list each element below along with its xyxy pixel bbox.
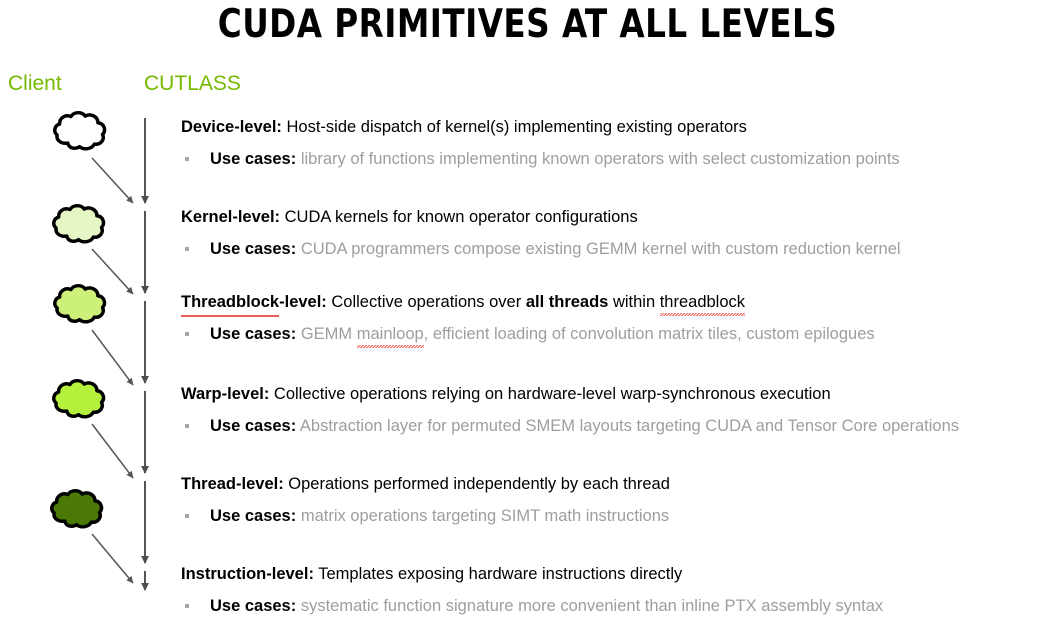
level-title-thread: Thread-level: Operations performed indep… <box>181 473 1051 495</box>
usecase-device: Use cases: library of functions implemen… <box>181 148 1051 170</box>
level-desc-kernel: CUDA kernels for known operator configur… <box>280 208 638 226</box>
level-desc-device: Host-side dispatch of kernel(s) implemen… <box>282 118 747 136</box>
level-lead-threadblock-suffix: -level: <box>279 293 327 311</box>
connector-arrow-4 <box>92 424 133 478</box>
usecase-text-kernel: CUDA programmers compose existing GEMM k… <box>296 240 900 258</box>
level-title-device: Device-level: Host-side dispatch of kern… <box>181 116 1051 138</box>
level-block-instruction: Instruction-level: Templates exposing ha… <box>181 563 1051 617</box>
level-block-device: Device-level: Host-side dispatch of kern… <box>181 116 1051 170</box>
level-title-threadblock: Threadblock-level: Collective operations… <box>181 291 1051 313</box>
level-desc-threadblock-misspelled: threadblock <box>660 291 745 313</box>
level-title-warp: Warp-level: Collective operations relyin… <box>181 383 1051 405</box>
connector-arrow-1 <box>92 158 133 203</box>
cloud-thread-icon <box>52 491 102 527</box>
hierarchy-diagram <box>0 0 180 637</box>
usecase-text-threadblock-a: GEMM <box>296 325 357 343</box>
level-desc-warp: Collective operations relying on hardwar… <box>269 385 830 403</box>
level-title-instruction: Instruction-level: Templates exposing ha… <box>181 563 1051 585</box>
usecase-text-thread: matrix operations targeting SIMT math in… <box>296 507 669 525</box>
level-lead-thread: Thread-level: <box>181 475 284 493</box>
connector-arrow-5 <box>92 534 133 583</box>
bullet-icon <box>185 424 189 428</box>
level-block-threadblock: Threadblock-level: Collective operations… <box>181 291 1051 345</box>
usecase-label-warp: Use cases: <box>210 417 296 435</box>
cloud-warp-icon <box>54 381 104 417</box>
bullet-icon <box>185 332 189 336</box>
level-lead-instruction: Instruction-level: <box>181 565 314 583</box>
level-desc-threadblock-bold: all threads <box>526 293 609 311</box>
level-desc-threadblock-a: Collective operations over <box>327 293 526 311</box>
usecase-instruction: Use cases: systematic function signature… <box>181 595 1051 617</box>
usecase-text-warp: Abstraction layer for permuted SMEM layo… <box>296 417 959 435</box>
level-title-kernel: Kernel-level: CUDA kernels for known ope… <box>181 206 1051 228</box>
usecase-text-device: library of functions implementing known … <box>296 150 899 168</box>
level-desc-thread: Operations performed independently by ea… <box>284 475 670 493</box>
cloud-device-icon <box>55 113 105 149</box>
usecase-text-threadblock-misspelled: mainloop <box>357 323 424 345</box>
page-title: CUDA PRIMITIVES AT ALL LEVELS <box>37 2 1018 47</box>
bullet-icon <box>185 514 189 518</box>
level-desc-threadblock-b: within <box>608 293 659 311</box>
usecase-warp: Use cases: Abstraction layer for permute… <box>181 415 1051 437</box>
usecase-label-instruction: Use cases: <box>210 597 296 615</box>
usecase-text-instruction: systematic function signature more conve… <box>296 597 883 615</box>
level-lead-kernel: Kernel-level: <box>181 208 280 226</box>
level-block-warp: Warp-level: Collective operations relyin… <box>181 383 1051 437</box>
cloud-threadblock-icon <box>55 286 105 322</box>
level-lead-device: Device-level: <box>181 118 282 136</box>
usecase-label-thread: Use cases: <box>210 507 296 525</box>
usecase-text-threadblock-b: , efficient loading of convolution matri… <box>424 325 875 343</box>
level-block-thread: Thread-level: Operations performed indep… <box>181 473 1051 527</box>
bullet-icon <box>185 247 189 251</box>
bullet-icon <box>185 604 189 608</box>
bullet-icon <box>185 157 189 161</box>
usecase-label-threadblock: Use cases: <box>210 325 296 343</box>
level-lead-threadblock-misspelled: Threadblock <box>181 291 279 313</box>
connector-arrow-3 <box>92 330 133 385</box>
level-lead-warp: Warp-level: <box>181 385 269 403</box>
usecase-kernel: Use cases: CUDA programmers compose exis… <box>181 238 1051 260</box>
usecase-threadblock: Use cases: GEMM mainloop, efficient load… <box>181 323 1051 345</box>
connector-arrow-2 <box>92 249 133 294</box>
cloud-kernel-icon <box>54 206 104 242</box>
usecase-thread: Use cases: matrix operations targeting S… <box>181 505 1051 527</box>
usecase-label-device: Use cases: <box>210 150 296 168</box>
usecase-label-kernel: Use cases: <box>210 240 296 258</box>
level-desc-instruction: Templates exposing hardware instructions… <box>314 565 682 583</box>
level-block-kernel: Kernel-level: CUDA kernels for known ope… <box>181 206 1051 260</box>
